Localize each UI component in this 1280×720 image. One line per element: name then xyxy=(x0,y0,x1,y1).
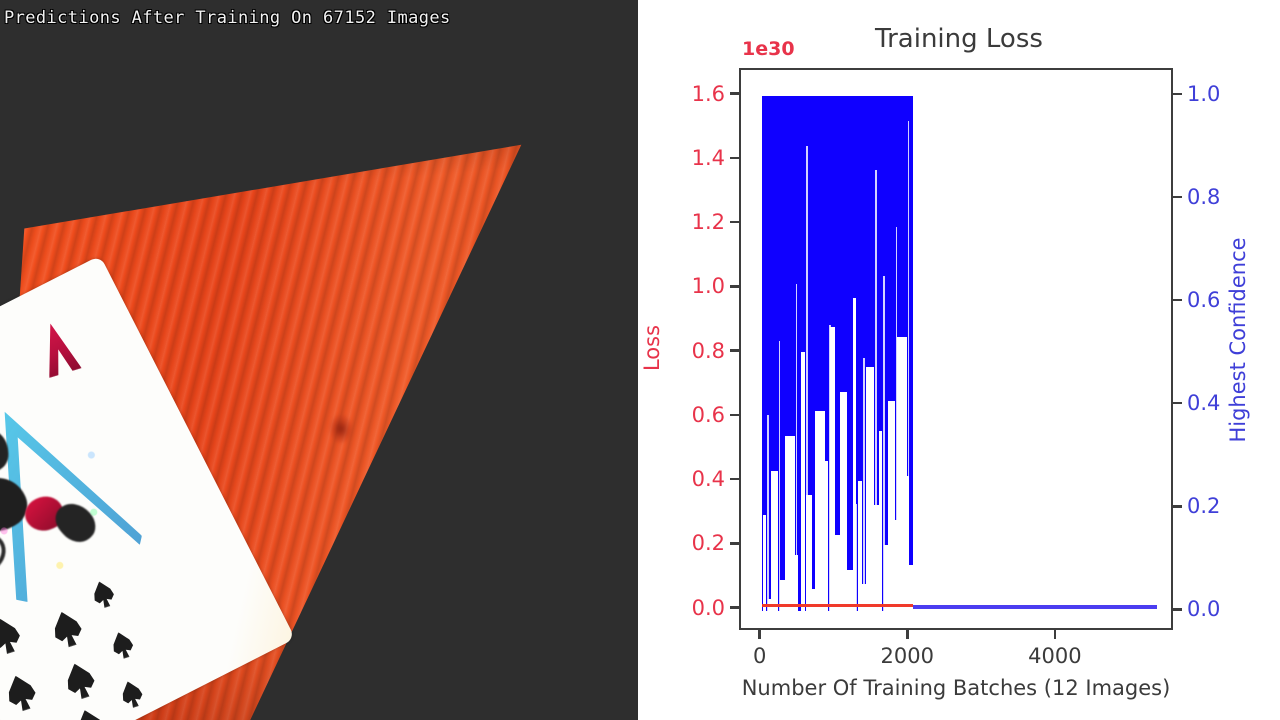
confidence-flat-line xyxy=(913,605,1157,609)
left-axis-tick xyxy=(730,349,739,352)
left-axis-tick-label: 1.6 xyxy=(692,82,725,106)
left-axis-tick-label: 1.2 xyxy=(692,210,725,234)
right-axis-tick-label: 0.6 xyxy=(1187,288,1220,312)
card-pip xyxy=(60,659,100,703)
matplotlib-figure: Training Loss 1e30 0.00.20.40.60.81.01.2… xyxy=(638,0,1280,720)
confidence-dip-gap xyxy=(771,471,777,624)
left-axis-tick-label: 0.4 xyxy=(692,467,725,491)
card-pip xyxy=(108,629,137,661)
plot-axes-frame xyxy=(739,68,1173,630)
x-axis-tick xyxy=(758,630,761,639)
x-axis-label: Number Of Training Batches (12 Images) xyxy=(742,676,1171,700)
card-pip xyxy=(89,578,118,610)
left-axis-tick xyxy=(730,157,739,160)
x-axis-tick-label: 0 xyxy=(753,644,766,668)
screenshot-root: Predictions After Training On 67152 Imag… xyxy=(0,0,1280,720)
confidence-dip-gap xyxy=(801,352,806,624)
left-axis-tick-label: 1.0 xyxy=(692,274,725,298)
confidence-dip-gap xyxy=(763,515,766,624)
card-pip xyxy=(47,607,87,651)
left-axis-tick xyxy=(730,478,739,481)
left-axis-tick xyxy=(730,221,739,224)
left-axis-tick-label: 0.0 xyxy=(692,596,725,620)
x-axis-tick xyxy=(906,630,909,639)
right-axis-tick xyxy=(1173,608,1182,611)
left-axis-tick-label: 0.2 xyxy=(692,531,725,555)
confidence-dip-gap xyxy=(795,555,798,624)
left-axis-tick-label: 0.6 xyxy=(692,403,725,427)
confidence-dip-gap xyxy=(825,461,828,624)
left-axis-tick-label: 1.4 xyxy=(692,146,725,170)
right-axis-tick xyxy=(1173,299,1182,302)
rendered-scene xyxy=(0,0,638,720)
right-axis-tick-label: 1.0 xyxy=(1187,82,1220,106)
left-axis-tick-label: 0.8 xyxy=(692,339,725,363)
right-axis-tick xyxy=(1173,402,1182,405)
card-pip xyxy=(117,678,146,710)
x-axis-tick xyxy=(1054,630,1057,639)
card-rank-mark xyxy=(34,319,82,379)
loss-flat-line xyxy=(762,604,913,607)
confidence-dip-gap xyxy=(853,298,856,624)
card-pip xyxy=(1,671,41,715)
confidence-dip-spike xyxy=(767,415,769,624)
right-axis-tick-label: 0.8 xyxy=(1187,185,1220,209)
left-axis-tick xyxy=(730,606,739,609)
confidence-dip-gap xyxy=(815,411,824,624)
confidence-dip-gap xyxy=(879,431,882,624)
right-axis-tick-label: 0.0 xyxy=(1187,597,1220,621)
left-axis-tick xyxy=(730,285,739,288)
confidence-dip-gap xyxy=(830,327,835,624)
right-axis-tick xyxy=(1173,93,1182,96)
training-loss-chart-panel: Training Loss 1e30 0.00.20.40.60.81.01.2… xyxy=(638,0,1280,720)
right-axis-tick xyxy=(1173,505,1182,508)
right-axis-tick-label: 0.2 xyxy=(1187,494,1220,518)
prediction-image-panel: Predictions After Training On 67152 Imag… xyxy=(0,0,638,720)
left-axis-tick xyxy=(730,92,739,95)
surface-blemish xyxy=(330,415,352,443)
x-axis-tick-label: 4000 xyxy=(1028,644,1081,668)
card-pip xyxy=(70,705,110,720)
left-axis-tick xyxy=(730,414,739,417)
confidence-dip-gap xyxy=(908,565,913,624)
card-center-artwork xyxy=(0,367,160,622)
right-axis-label: Highest Confidence xyxy=(1226,237,1250,442)
right-axis-tick-label: 0.4 xyxy=(1187,391,1220,415)
x-axis-tick-label: 2000 xyxy=(881,644,934,668)
left-axis-offset-text: 1e30 xyxy=(742,38,795,60)
prediction-overlay-title: Predictions After Training On 67152 Imag… xyxy=(4,8,451,28)
left-axis-tick xyxy=(730,542,739,545)
left-axis-label: Loss xyxy=(640,325,664,371)
chart-title: Training Loss xyxy=(638,24,1280,54)
card-color-noise xyxy=(0,367,160,622)
right-axis-tick xyxy=(1173,196,1182,199)
confidence-dip-gap xyxy=(785,436,794,624)
